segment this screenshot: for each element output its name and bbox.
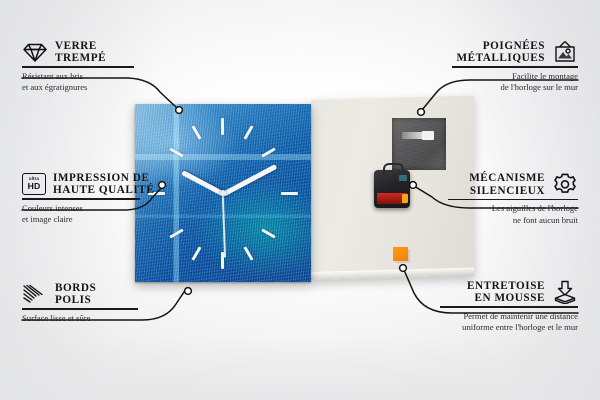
callout-description: Résistant aux bris et aux égratignures <box>22 71 142 94</box>
clock-center-hub <box>220 190 226 196</box>
battery <box>377 193 407 204</box>
callout-divider <box>22 198 140 199</box>
ultra-hd-icon: ultra HD <box>22 173 46 195</box>
callout-title: BORDS POLIS <box>55 282 96 306</box>
callout-description-line-2: de l'horloge sur le mur <box>452 82 578 93</box>
callout-title-line-1: IMPRESSION DE <box>53 172 154 184</box>
callout-divider <box>22 308 138 309</box>
callout-title: MÉCANISME SILENCIEUX <box>469 172 545 196</box>
callout-description-line-2: uniforme entre l'horloge et le mur <box>440 322 578 333</box>
callout-head: MÉCANISME SILENCIEUX <box>448 172 578 197</box>
callout-head: POIGNÉES MÉTALLIQUES <box>452 40 578 64</box>
callout-title: POIGNÉES MÉTALLIQUES <box>456 40 545 64</box>
callout-description-line-2: ne font aucun bruit <box>448 215 578 226</box>
back-panel-bottom-edge <box>311 267 474 280</box>
callout-head: VERRE TREMPÉ <box>22 40 142 64</box>
callout-description-line-1: Couleurs intenses <box>22 203 172 214</box>
callout-divider <box>452 66 578 67</box>
callout-divider <box>22 66 134 67</box>
callout-mecanisme-silencieux: MÉCANISME SILENCIEUX Les aiguilles de l'… <box>448 172 578 226</box>
metal-hanger-plate <box>392 118 446 170</box>
callout-title: ENTRETOISE EN MOUSSE <box>467 280 545 304</box>
callout-title-line-1: ENTRETOISE <box>467 280 545 292</box>
callout-impression-haute-qualite: ultra HD IMPRESSION DE HAUTE QUALITÉ Cou… <box>22 172 172 225</box>
callout-title-line-1: POIGNÉES <box>456 40 545 52</box>
callout-verre-trempe: VERRE TREMPÉ Résistant aux bris et aux é… <box>22 40 142 93</box>
foam-spacer-icon <box>552 280 578 304</box>
callout-title-line-2: SILENCIEUX <box>469 185 545 197</box>
foam-spacer <box>393 247 408 261</box>
ultra-hd-icon-bottom-text: HD <box>28 182 41 191</box>
callout-head: ultra HD IMPRESSION DE HAUTE QUALITÉ <box>22 172 172 196</box>
callout-head: BORDS POLIS <box>22 282 152 306</box>
callout-description: Les aiguilles de l'horloge ne font aucun… <box>448 203 578 226</box>
callout-description-line-2: et aux égratignures <box>22 82 142 93</box>
callout-title-line-1: BORDS <box>55 282 96 294</box>
callout-title-line-1: VERRE <box>55 40 106 52</box>
callout-title-line-2: EN MOUSSE <box>467 292 545 304</box>
callout-title-line-2: TREMPÉ <box>55 52 106 64</box>
callout-description: Surface lisse et sûre <box>22 313 152 324</box>
callout-title-line-2: POLIS <box>55 294 96 306</box>
clock-mechanism <box>374 170 410 208</box>
callout-description: Permet de maintenir une distance uniform… <box>440 311 578 334</box>
hanging-frame-icon <box>552 40 578 64</box>
polished-edge-icon <box>22 284 48 304</box>
diamond-icon <box>22 42 48 63</box>
infographic-canvas: VERRE TREMPÉ Résistant aux bris et aux é… <box>0 0 600 400</box>
gear-icon <box>552 172 578 197</box>
mechanism-chip <box>399 175 407 181</box>
callout-entretoise-en-mousse: ENTRETOISE EN MOUSSE Permet de maintenir… <box>440 280 578 333</box>
callout-description-line-2: et image claire <box>22 214 172 225</box>
callout-description: Facilite le montage de l'horloge sur le … <box>452 71 578 94</box>
callout-description-line-1: Les aiguilles de l'horloge <box>448 203 578 214</box>
callout-title-line-2: MÉTALLIQUES <box>456 52 545 64</box>
callout-divider <box>448 199 578 200</box>
callout-description: Couleurs intenses et image claire <box>22 203 172 226</box>
callout-title: VERRE TREMPÉ <box>55 40 106 64</box>
callout-divider <box>440 306 578 307</box>
clock-tick <box>221 118 224 135</box>
callout-description-line-1: Résistant aux bris <box>22 71 142 82</box>
callout-title-line-2: HAUTE QUALITÉ <box>53 184 154 196</box>
callout-description-line-1: Permet de maintenir une distance <box>440 311 578 322</box>
mechanism-hanging-loop <box>383 163 404 175</box>
callout-title-line-1: MÉCANISME <box>469 172 545 184</box>
clock-tick <box>281 192 298 195</box>
callout-head: ENTRETOISE EN MOUSSE <box>440 280 578 304</box>
callout-description-line-1: Surface lisse et sûre <box>22 313 152 324</box>
hanger-slot-highlight <box>422 131 434 140</box>
callout-bords-polis: BORDS POLIS Surface lisse et sûre <box>22 282 152 324</box>
callout-description-line-1: Facilite le montage <box>452 71 578 82</box>
callout-poignees-metalliques: POIGNÉES MÉTALLIQUES Facilite le montage… <box>452 40 578 93</box>
callout-title: IMPRESSION DE HAUTE QUALITÉ <box>53 172 154 196</box>
